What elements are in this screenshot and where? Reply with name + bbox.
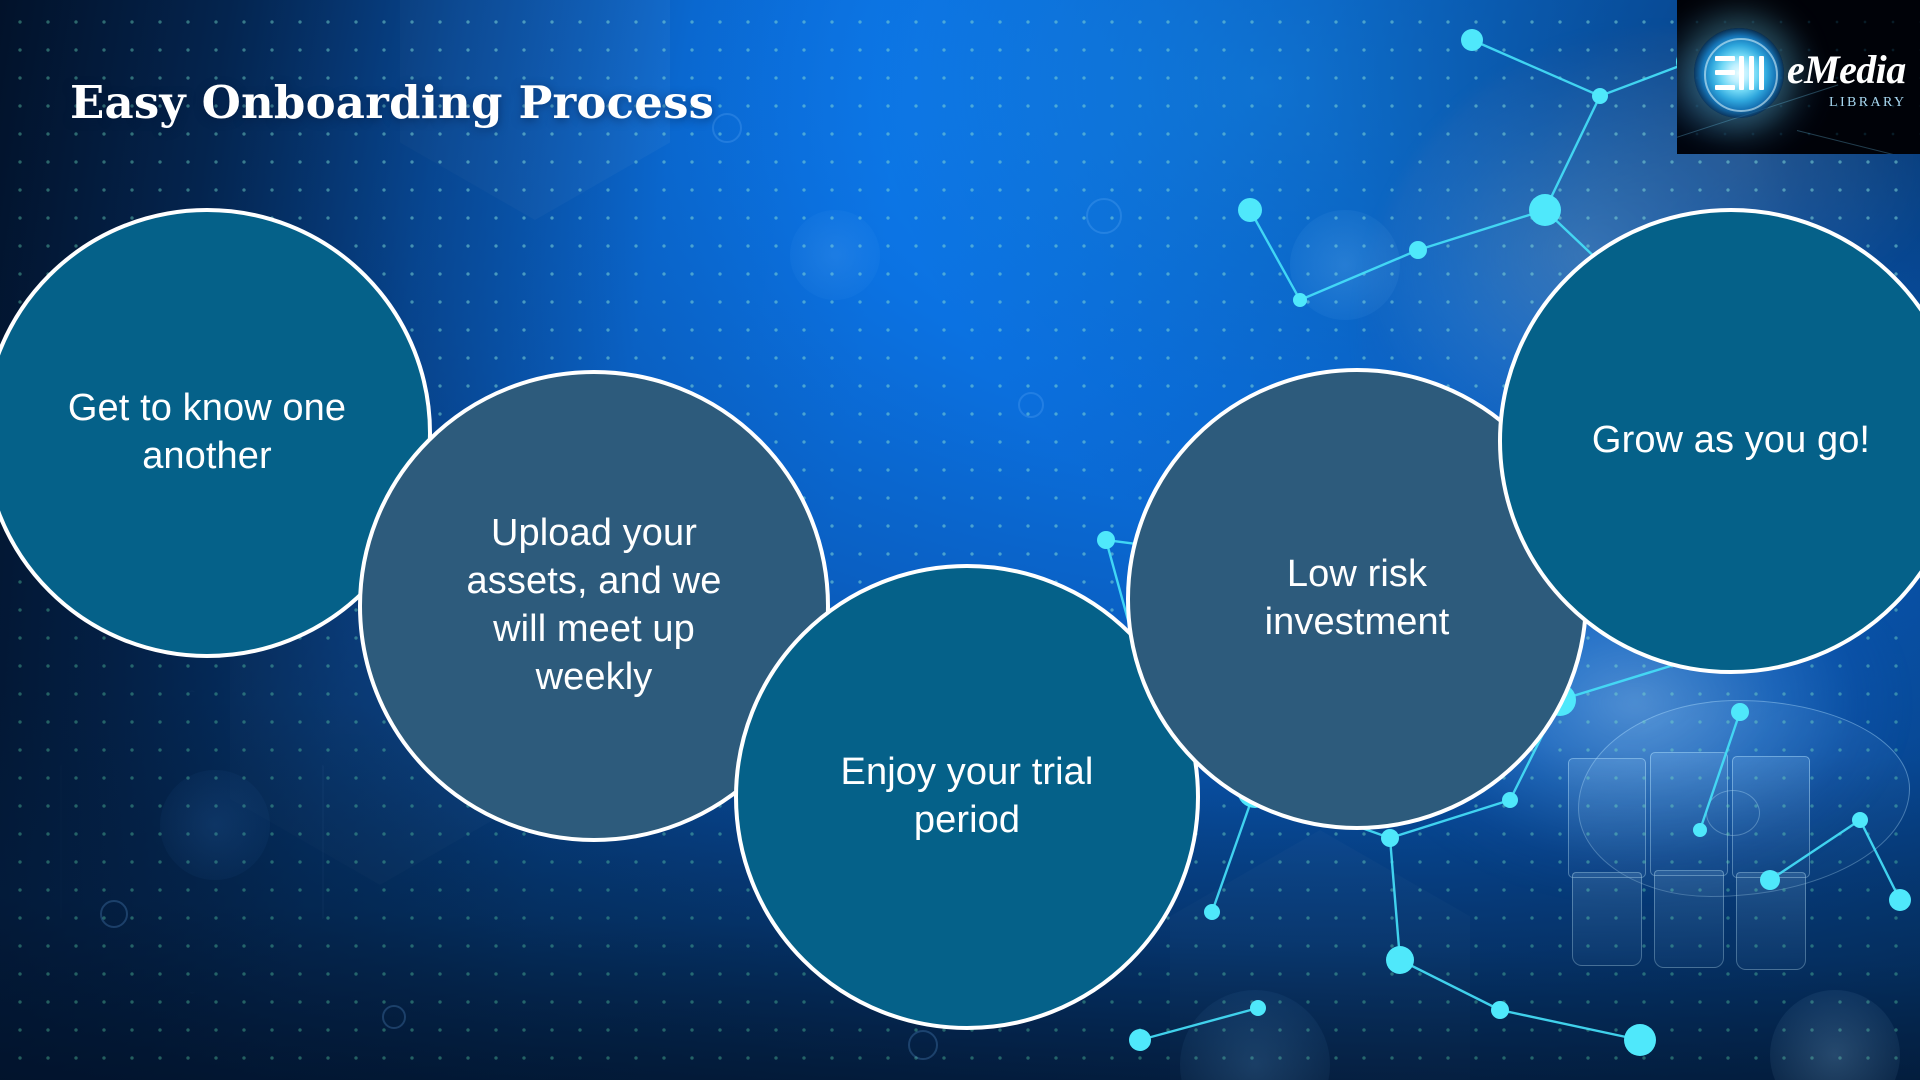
slide-canvas: Easy Onboarding Process eMedia LIBRARY G… (0, 0, 1920, 1080)
step-circle-3-label: Enjoy your trial period (829, 749, 1106, 845)
emedia-bars-icon (1715, 56, 1765, 90)
step-circle-2-label: Upload your assets, and we will meet up … (455, 510, 734, 702)
logo-subtitle-text: LIBRARY (1829, 95, 1906, 111)
brand-logo[interactable]: eMedia LIBRARY (1677, 0, 1920, 154)
step-circle-4-label: Low risk investment (1253, 551, 1462, 647)
page-title: Easy Onboarding Process (70, 76, 714, 129)
step-circle-5-label: Grow as you go! (1580, 417, 1882, 465)
step-circle-1-label: Get to know one another (56, 385, 358, 481)
logo-brand-text: eMedia (1787, 50, 1906, 90)
